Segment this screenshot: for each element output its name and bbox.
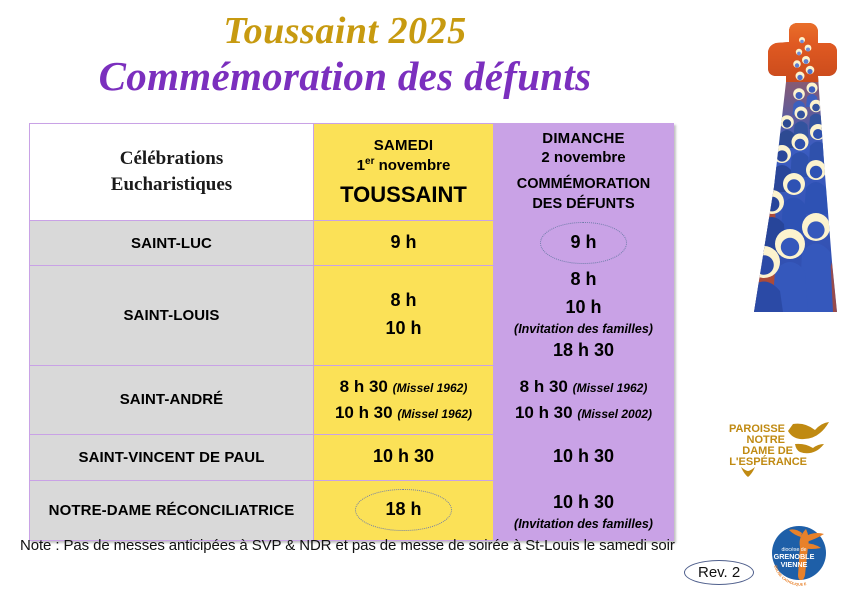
mass-time-row: 10 h 30 (Missel 1962): [314, 400, 493, 426]
page-title: Toussaint 2025: [0, 12, 690, 52]
cell-sunday-notre-dame-reconciliatrice: 10 h 30 (Invitation des familles): [494, 480, 674, 540]
highlight-ellipse: 18 h: [355, 489, 451, 531]
mass-time: 9 h: [570, 232, 596, 252]
header-sunday-feast-line1: COMMÉMORATION: [494, 175, 673, 195]
row-place-saint-louis: SAINT-LOUIS: [30, 266, 314, 366]
mass-time-row: 8 h 30 (Missel 1962): [314, 374, 493, 400]
header-saturday-day: SAMEDI: [314, 137, 493, 154]
header-saturday-date-month: novembre: [374, 157, 450, 174]
mass-schedule-table: Célébrations Eucharistiques SAMEDI 1er n…: [29, 123, 674, 541]
header-cell-saturday: SAMEDI 1er novembre TOUSSAINT: [314, 124, 494, 221]
header-sunday-date: 2 novembre: [494, 149, 673, 166]
mass-time: 8 h: [494, 266, 673, 294]
mass-time-row: 8 h 30 (Missel 1962): [494, 374, 673, 400]
row-place-notre-dame-reconciliatrice: NOTRE-DAME RÉCONCILIATRICE: [30, 480, 314, 540]
page-subtitle: Commémoration des défunts: [0, 54, 690, 99]
header-saturday-date: 1er novembre: [314, 156, 493, 174]
header-celebrations-line1: Célébrations: [30, 146, 313, 172]
mass-time: 10 h 30: [494, 443, 673, 471]
cell-saturday-saint-luc: 9 h: [314, 221, 494, 266]
header-celebrations-line2: Eucharistiques: [30, 172, 313, 198]
diocese-logo: diocèse de GRENOBLE VIENNE ÉGLISE CATHOL…: [766, 521, 836, 589]
table-row: SAINT-ANDRÉ 8 h 30 (Missel 1962) 10 h 30…: [30, 365, 674, 434]
cell-sunday-saint-louis: 8 h 10 h (Invitation des familles) 18 h …: [494, 266, 674, 366]
revision-badge: Rev. 2: [684, 560, 754, 585]
row-place-saint-luc: SAINT-LUC: [30, 221, 314, 266]
cell-sunday-saint-vincent-de-paul: 10 h 30: [494, 434, 674, 480]
mass-time: 18 h 30: [494, 337, 673, 365]
table-row: SAINT-LOUIS 8 h 10 h 8 h 10 h (Invitatio…: [30, 266, 674, 366]
missel-note: (Missel 1962): [393, 381, 468, 395]
mass-note: (Invitation des familles): [494, 322, 673, 337]
mass-time: 18 h: [385, 499, 421, 519]
cell-saturday-saint-andre: 8 h 30 (Missel 1962) 10 h 30 (Missel 196…: [314, 365, 494, 434]
table-row: SAINT-LUC 9 h 9 h: [30, 221, 674, 266]
missel-note: (Missel 1962): [397, 407, 472, 421]
svg-text:VIENNE: VIENNE: [781, 560, 808, 569]
table-row: NOTRE-DAME RÉCONCILIATRICE 18 h 10 h 30 …: [30, 480, 674, 540]
mass-time: 10 h 30: [335, 403, 393, 422]
missel-note: (Missel 1962): [573, 381, 648, 395]
cell-saturday-saint-vincent-de-paul: 10 h 30: [314, 434, 494, 480]
header-sunday-feast: COMMÉMORATION DES DÉFUNTS: [494, 175, 673, 214]
svg-text:L'ESPÉRANCE: L'ESPÉRANCE: [729, 455, 807, 468]
mass-time: 10 h: [494, 294, 673, 322]
table-header-row: Célébrations Eucharistiques SAMEDI 1er n…: [30, 124, 674, 221]
mass-time-row: 10 h 30 (Missel 2002): [494, 400, 673, 426]
table-row: SAINT-VINCENT DE PAUL 10 h 30 10 h 30: [30, 434, 674, 480]
mass-time: 8 h 30: [340, 377, 388, 396]
mass-note: (Invitation des familles): [494, 517, 673, 532]
row-place-saint-andre: SAINT-ANDRÉ: [30, 365, 314, 434]
mass-time: 10 h 30: [494, 489, 673, 517]
cell-sunday-saint-luc: 9 h: [494, 221, 674, 266]
mass-time: 9 h: [314, 229, 493, 257]
header-cell-sunday: DIMANCHE 2 novembre COMMÉMORATION DES DÉ…: [494, 124, 674, 221]
mass-time: 8 h 30: [520, 377, 568, 396]
parish-logo: PAROISSE NOTRE DAME DE L'ESPÉRANCE: [697, 420, 847, 482]
mass-time: 10 h 30: [314, 443, 493, 471]
header-sunday-day: DIMANCHE: [494, 130, 673, 147]
row-place-saint-vincent-de-paul: SAINT-VINCENT DE PAUL: [30, 434, 314, 480]
highlight-ellipse: 9 h: [540, 222, 626, 264]
cell-saturday-notre-dame-reconciliatrice: 18 h: [314, 480, 494, 540]
mass-time: 10 h 30: [515, 403, 573, 422]
header-cell-celebrations: Célébrations Eucharistiques: [30, 124, 314, 221]
header-sunday-feast-line2: DES DÉFUNTS: [494, 195, 673, 215]
cross-with-procession-of-saints-icon: [744, 12, 844, 347]
mass-time: 8 h: [314, 287, 493, 315]
page-title-block: Toussaint 2025 Commémoration des défunts: [0, 12, 690, 99]
cell-sunday-saint-andre: 8 h 30 (Missel 1962) 10 h 30 (Missel 200…: [494, 365, 674, 434]
header-saturday-feast: TOUSSAINT: [314, 182, 493, 208]
header-saturday-date-num: 1: [357, 157, 365, 174]
mass-time: 10 h: [314, 315, 493, 343]
footer-note: Note : Pas de messes anticipées à SVP & …: [20, 537, 675, 554]
missel-note: (Missel 2002): [577, 407, 652, 421]
cell-saturday-saint-louis: 8 h 10 h: [314, 266, 494, 366]
